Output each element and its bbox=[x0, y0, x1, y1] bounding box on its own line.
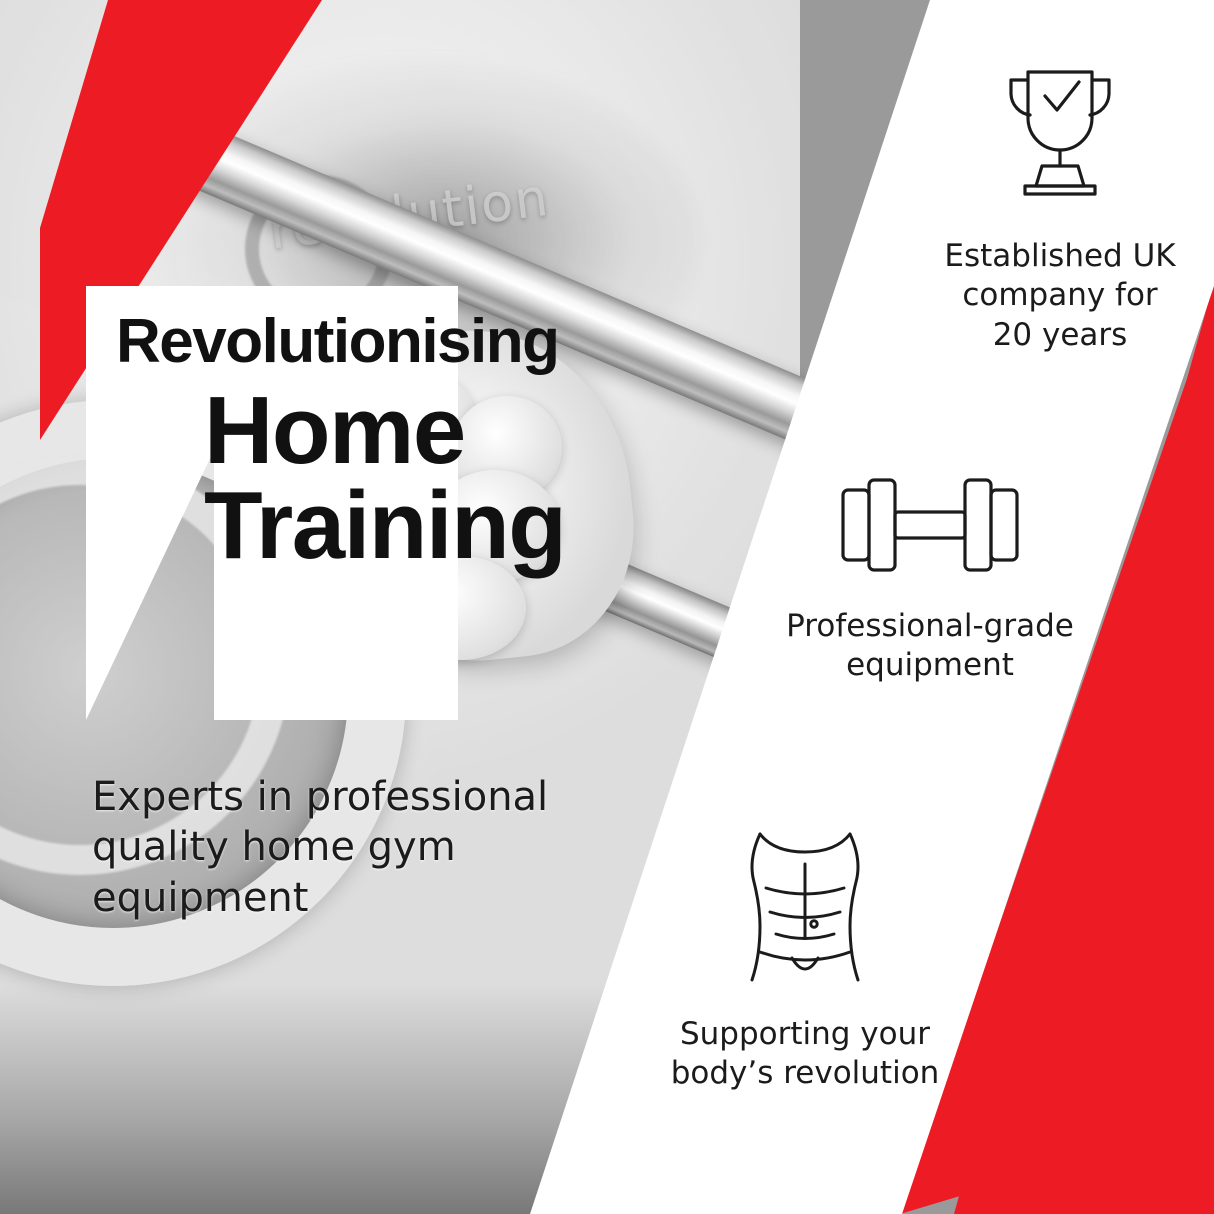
feature-label-line-2: equipment bbox=[760, 646, 1100, 686]
headline-line-1: Revolutionising bbox=[116, 312, 565, 372]
headline-line-2: Home bbox=[204, 384, 565, 477]
feature-professional-grade: Professional-grade equipment bbox=[760, 470, 1100, 686]
dumbbell-icon bbox=[760, 470, 1100, 591]
feature-label-line-2: company for bbox=[910, 276, 1210, 316]
headline-line-3: Training bbox=[204, 479, 565, 572]
feature-established-uk: Established UK company for 20 years bbox=[910, 60, 1210, 356]
feature-label-line-1: Established UK bbox=[910, 237, 1210, 277]
feature-body-revolution: Supporting your body’s revolution bbox=[640, 828, 970, 1094]
feature-label-line-3: 20 years bbox=[910, 316, 1210, 356]
feature-label-line-1: Supporting your bbox=[640, 1015, 970, 1055]
promo-banner: revolution Revolutionising Home Training… bbox=[0, 0, 1214, 1214]
trophy-check-icon bbox=[910, 60, 1210, 221]
feature-label-line-2: body’s revolution bbox=[640, 1054, 970, 1094]
headline: Revolutionising Home Training bbox=[116, 312, 565, 572]
feature-label-line-1: Professional-grade bbox=[760, 607, 1100, 647]
abs-torso-icon bbox=[640, 828, 970, 999]
sub-copy: Experts in professional quality home gym… bbox=[92, 772, 672, 923]
